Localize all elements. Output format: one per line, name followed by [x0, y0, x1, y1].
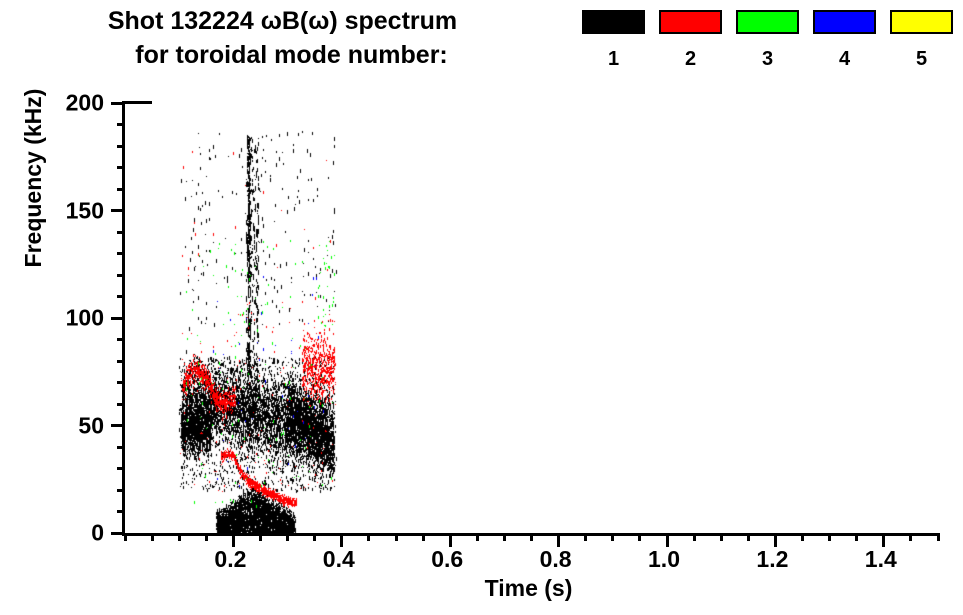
x-axis-major-tick — [340, 533, 343, 547]
y-axis-tick-label: 0 — [91, 520, 104, 547]
y-axis-minor-tick — [117, 446, 125, 449]
x-axis-minor-tick — [259, 533, 262, 541]
x-axis-tick-label: 0.2 — [214, 546, 246, 573]
y-axis-tick-label: 150 — [66, 197, 104, 224]
y-axis-minor-tick — [117, 360, 125, 363]
x-axis-tick-label: 0.6 — [431, 546, 463, 573]
y-axis-major-tick — [111, 102, 125, 105]
x-axis-minor-tick — [151, 533, 154, 541]
x-axis-major-tick — [666, 533, 669, 547]
y-axis-minor-tick — [117, 338, 125, 341]
figure-root: Shot 132224 ωB(ω) spectrum for toroidal … — [0, 0, 963, 615]
y-axis-minor-tick — [117, 123, 125, 126]
y-axis-tick-label: 200 — [66, 90, 104, 117]
x-axis-minor-tick — [178, 533, 181, 541]
x-axis-minor-tick — [611, 533, 614, 541]
x-axis-minor-tick — [205, 533, 208, 541]
x-axis-major-tick — [774, 533, 777, 547]
x-axis-major-tick — [882, 533, 885, 547]
x-axis-minor-tick — [313, 533, 316, 541]
y-axis-minor-tick — [117, 231, 125, 234]
plot-area — [122, 103, 938, 536]
legend-mode-number: 3 — [762, 48, 773, 70]
legend-color-box-n2 — [659, 10, 722, 34]
x-axis-minor-tick — [747, 533, 750, 541]
legend-mode-number: 2 — [685, 48, 696, 70]
x-axis-minor-tick — [503, 533, 506, 541]
x-axis-major-tick — [449, 533, 452, 547]
y-axis-minor-tick — [117, 489, 125, 492]
y-axis-minor-tick — [117, 166, 125, 169]
spectrogram-canvas — [125, 103, 938, 533]
x-axis-minor-tick — [422, 533, 425, 541]
x-axis-tick-label: 0.8 — [540, 546, 572, 573]
y-axis-minor-tick — [117, 252, 125, 255]
legend-mode-number: 1 — [608, 48, 619, 70]
legend-color-box-n5 — [890, 10, 953, 34]
legend-swatch-n2 — [652, 10, 729, 34]
x-axis-minor-tick — [124, 533, 127, 541]
legend-label-n3: 3 — [729, 34, 806, 70]
legend-swatch-n4 — [806, 10, 883, 34]
legend-swatch-n5 — [883, 10, 960, 34]
y-axis-major-tick — [111, 209, 125, 212]
x-axis-major-tick — [232, 533, 235, 547]
y-axis-minor-tick — [117, 510, 125, 513]
legend-color-box-n1 — [582, 10, 645, 34]
x-axis-minor-tick — [638, 533, 641, 541]
legend: 12345 — [575, 10, 963, 70]
legend-color-box-n4 — [813, 10, 876, 34]
x-axis-tick-labels: 0.20.40.60.81.01.21.4 — [0, 546, 963, 576]
y-axis-minor-tick — [117, 295, 125, 298]
x-axis-tick-label: 1.4 — [865, 546, 897, 573]
legend-label-n4: 4 — [806, 34, 883, 70]
x-axis-title: Time (s) — [122, 575, 935, 602]
legend-color-box-n3 — [736, 10, 799, 34]
x-axis-minor-tick — [937, 533, 940, 541]
legend-swatch-n1 — [575, 10, 652, 34]
y-axis-title-wrap: Frequency (kHz) — [28, 118, 58, 518]
legend-label-n2: 2 — [652, 34, 729, 70]
legend-swatch-n3 — [729, 10, 806, 34]
x-axis-minor-tick — [909, 533, 912, 541]
x-axis-tick-label: 1.0 — [648, 546, 680, 573]
x-axis-minor-tick — [395, 533, 398, 541]
legend-mode-number: 5 — [916, 48, 927, 70]
title-line-1: Shot 132224 ωB(ω) spectrum — [0, 4, 565, 38]
y-axis-minor-tick — [117, 381, 125, 384]
legend-label-row: 12345 — [575, 34, 963, 70]
x-axis-minor-tick — [855, 533, 858, 541]
y-axis-tick-label: 50 — [78, 412, 104, 439]
x-axis-minor-tick — [801, 533, 804, 541]
y-axis-tick-label: 100 — [66, 305, 104, 332]
y-axis-minor-tick — [117, 467, 125, 470]
legend-label-n1: 1 — [575, 34, 652, 70]
x-axis-minor-tick — [286, 533, 289, 541]
x-axis-minor-tick — [693, 533, 696, 541]
x-axis-tick-label: 0.4 — [323, 546, 355, 573]
legend-label-n5: 5 — [883, 34, 960, 70]
chart-title: Shot 132224 ωB(ω) spectrum for toroidal … — [0, 4, 565, 72]
x-axis-minor-tick — [476, 533, 479, 541]
y-axis-major-tick — [111, 424, 125, 427]
x-axis-minor-tick — [367, 533, 370, 541]
y-axis-minor-tick — [117, 188, 125, 191]
legend-swatch-row — [575, 10, 963, 34]
title-line-2: for toroidal mode number: — [0, 38, 565, 72]
y-axis-minor-tick — [117, 145, 125, 148]
x-axis-major-tick — [557, 533, 560, 547]
y-axis-title: Frequency (kHz) — [20, 48, 47, 308]
x-axis-minor-tick — [720, 533, 723, 541]
x-axis-minor-tick — [530, 533, 533, 541]
x-axis-tick-label: 1.2 — [756, 546, 788, 573]
y-axis-major-tick — [111, 317, 125, 320]
x-axis-minor-tick — [584, 533, 587, 541]
x-axis-minor-tick — [828, 533, 831, 541]
y-axis-minor-tick — [117, 403, 125, 406]
legend-mode-number: 4 — [839, 48, 850, 70]
y-axis-minor-tick — [117, 274, 125, 277]
